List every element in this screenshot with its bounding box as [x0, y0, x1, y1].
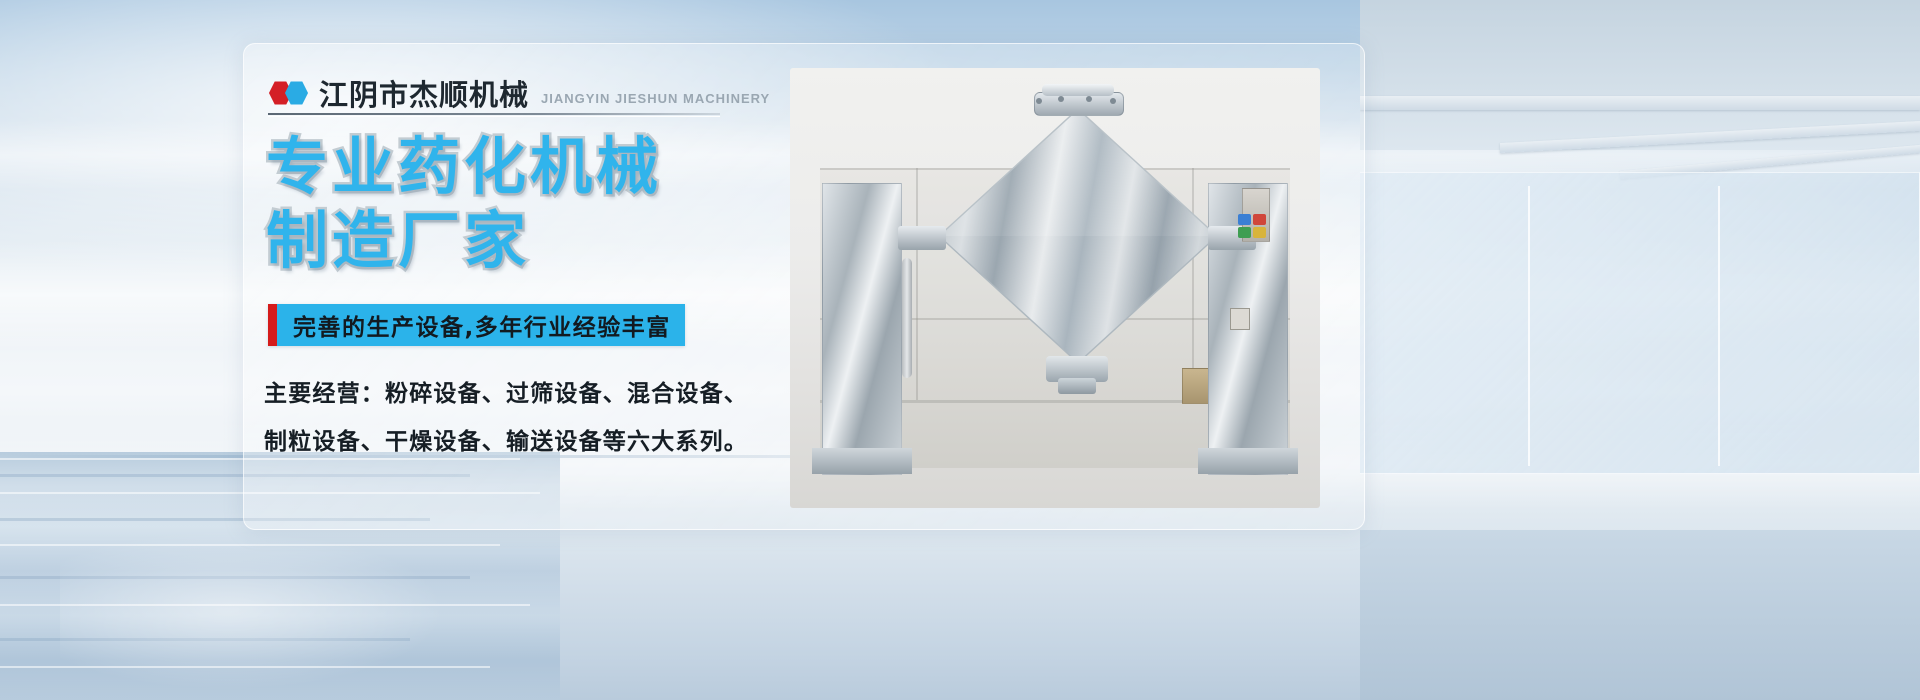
mullion-2 [1528, 186, 1530, 466]
glass-wall-a [1360, 172, 1920, 474]
product-photo [790, 68, 1320, 508]
logo-divider [268, 113, 720, 115]
company-name-en: JIANGYIN JIESHUN MACHINERY [541, 91, 770, 106]
leg-foot-right [1198, 448, 1298, 474]
signage-blue [1238, 214, 1251, 225]
description-line-2: 制粒设备、干燥设备、输送设备等六大系列。 [264, 418, 784, 466]
brand-logo[interactable]: 江阴市杰顺机械 JIANGYIN JIESHUN MACHINERY [268, 70, 728, 110]
manhole-cover [1042, 84, 1114, 96]
floor-plane [1360, 530, 1920, 700]
support-leg-left [822, 183, 902, 475]
description: 主要经营：粉碎设备、过筛设备、混合设备、 制粒设备、干燥设备、输送设备等六大系列… [264, 370, 784, 466]
signage-green [1238, 227, 1251, 238]
logo-divider-highlight [268, 116, 720, 117]
warning-placard [1230, 308, 1250, 330]
blue-hexagon-icon [284, 80, 309, 106]
description-line-1: 主要经营：粉碎设备、过筛设备、混合设备、 [264, 370, 784, 418]
architecture-backdrop [1360, 0, 1920, 700]
signage-red [1253, 214, 1266, 225]
hero-banner: 江阴市杰顺机械 JIANGYIN JIESHUN MACHINERY 专业药化机… [0, 0, 1920, 700]
company-name-cn: 江阴市杰顺机械 [319, 81, 529, 110]
highlight-accent-bar [268, 304, 277, 346]
mullion-1 [1718, 186, 1720, 466]
leg-foot-left [812, 448, 912, 474]
rotary-shaft-left [898, 226, 946, 250]
hexagon-logo-mark [268, 80, 312, 106]
signage-yellow [1253, 227, 1266, 238]
highlight-bar: 完善的生产设备,多年行业经验丰富 [268, 304, 685, 346]
ceiling-beam-1 [1360, 96, 1920, 110]
highlight-text: 完善的生产设备,多年行业经验丰富 [277, 308, 685, 342]
bottom-left-glow [60, 520, 480, 700]
discharge-valve [1058, 378, 1096, 394]
hose [902, 258, 912, 378]
